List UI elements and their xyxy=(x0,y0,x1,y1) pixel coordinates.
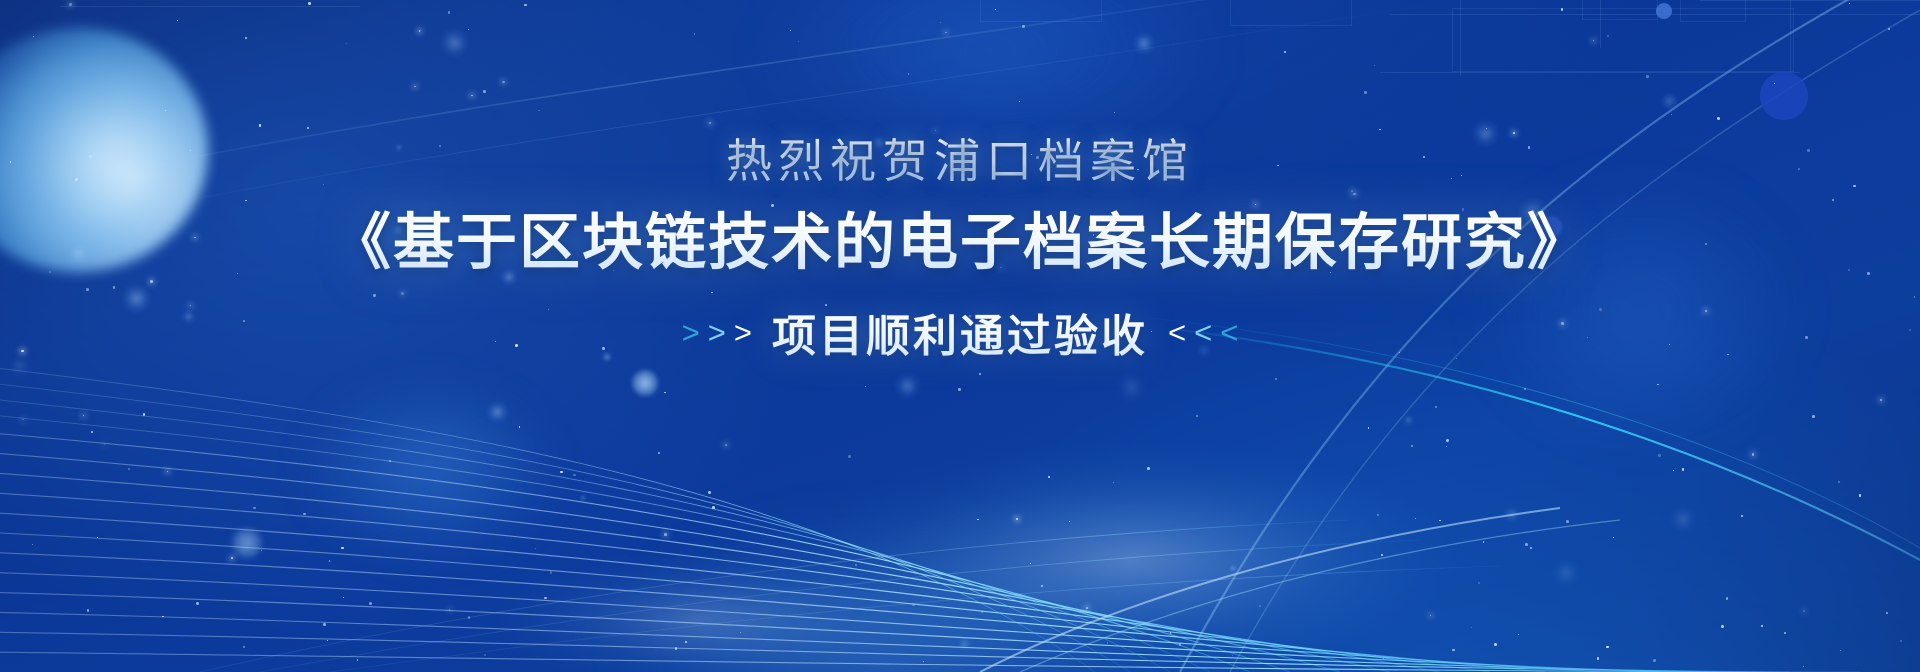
headline: 热烈祝贺浦口档案馆 xyxy=(0,138,1920,184)
project-title: 《基于区块链技术的电子档案长期保存研究》 xyxy=(0,210,1920,274)
subline-text: 项目顺利通过验收 xyxy=(772,300,1148,364)
chevron-left-icon-3: < xyxy=(1220,317,1238,348)
banner-text-block: 热烈祝贺浦口档案馆 《基于区块链技术的电子档案长期保存研究》 > > > 项目顺… xyxy=(0,138,1920,364)
chevron-right-triple-icon: > > > xyxy=(682,317,752,348)
small-circle-top-right xyxy=(1760,72,1808,120)
chevron-left-icon-2: < xyxy=(1194,317,1212,348)
chevron-left-icon-1: < xyxy=(1168,317,1186,348)
small-circle-right-upper xyxy=(1656,3,1672,19)
small-circle-lower-left xyxy=(632,370,658,396)
small-circle-bottom-left xyxy=(232,528,262,558)
celebration-banner: 热烈祝贺浦口档案馆 《基于区块链技术的电子档案长期保存研究》 > > > 项目顺… xyxy=(0,0,1920,672)
chevron-right-icon-3: > xyxy=(734,317,752,348)
chevron-right-icon-1: > xyxy=(682,317,700,348)
chevron-right-icon-2: > xyxy=(708,317,726,348)
subline-row: > > > 项目顺利通过验收 < < < xyxy=(0,300,1920,364)
chevron-left-triple-icon: < < < xyxy=(1168,317,1238,348)
